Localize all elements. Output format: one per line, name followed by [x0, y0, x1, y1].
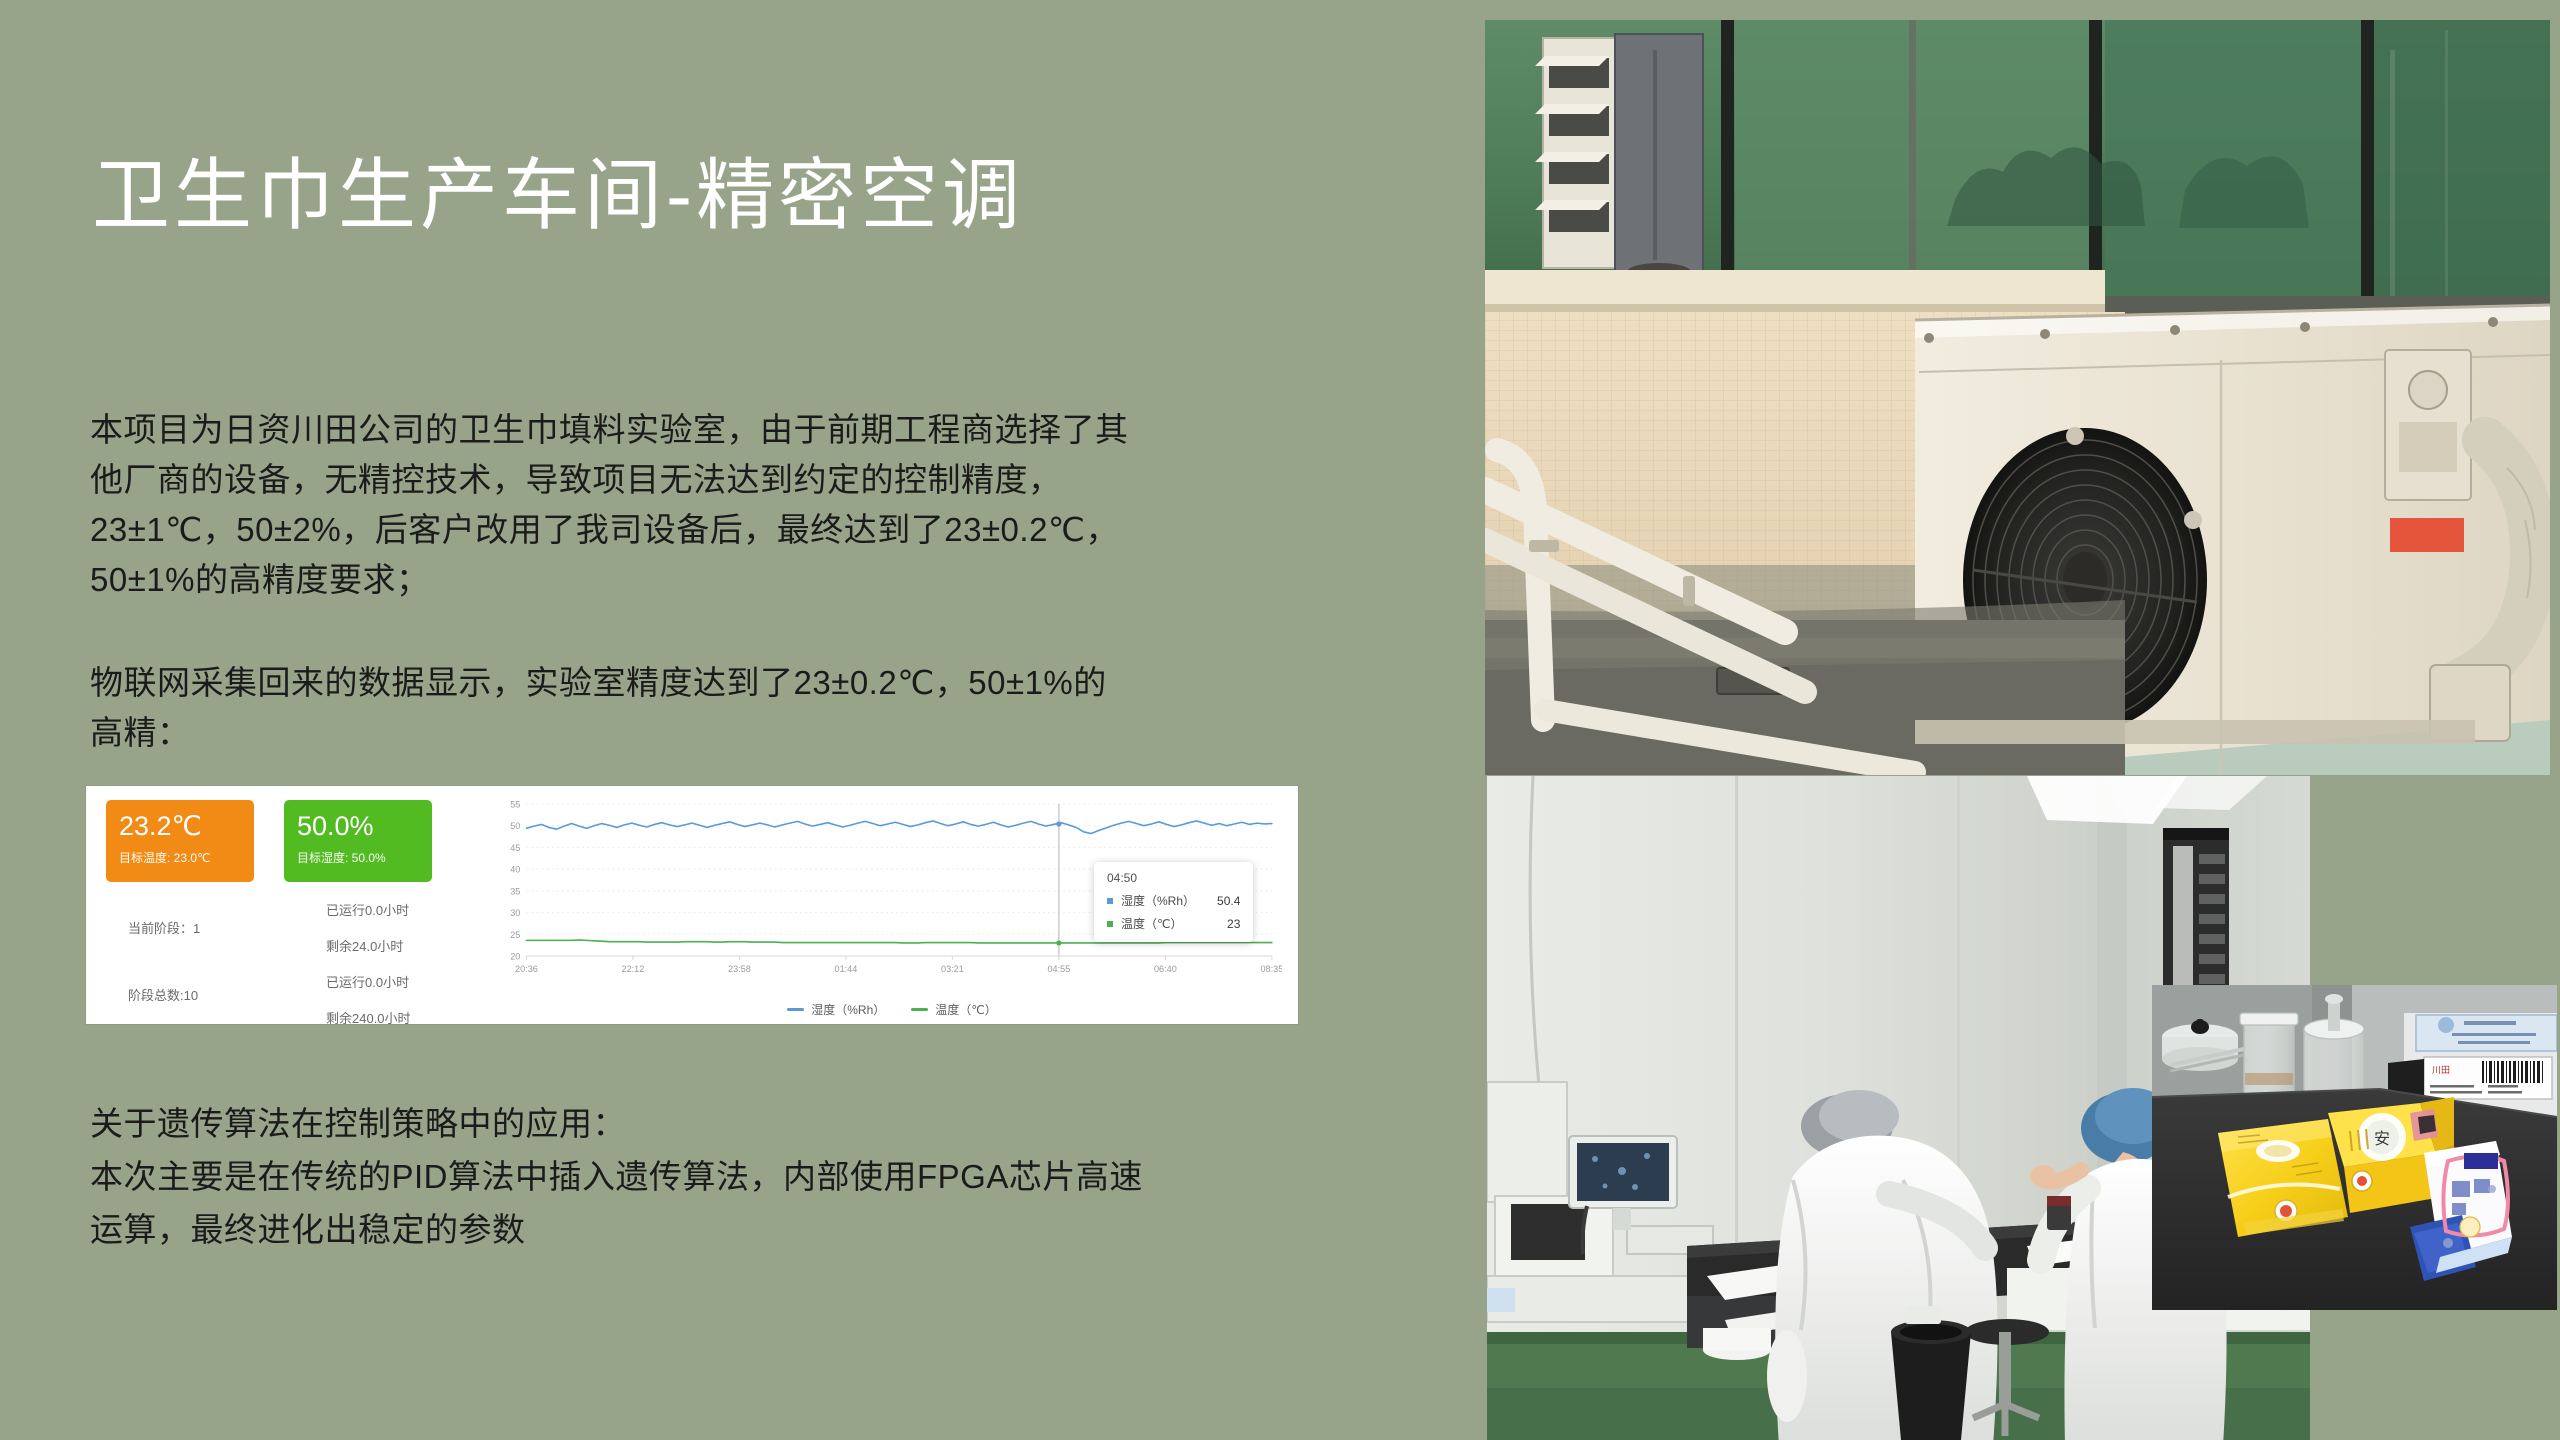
svg-text:03:21: 03:21 — [941, 964, 964, 974]
chart-tooltip: 04:50 湿度（%Rh） 50.4 温度（℃） 23 — [1094, 862, 1253, 942]
humidity-target: 目标湿度: 50.0% — [297, 849, 432, 866]
svg-text:40: 40 — [510, 865, 520, 875]
paragraph-line: 高精： — [90, 708, 1410, 758]
paragraph-line: 他厂商的设备，无精控技术，导致项目无法达到约定的控制精度， — [90, 455, 1410, 505]
photo-product-samples: 川田 — [2152, 985, 2557, 1310]
svg-text:23:58: 23:58 — [728, 964, 751, 974]
humidity-bullet-icon — [1107, 898, 1113, 904]
humidity-card: 50.0% 目标湿度: 50.0% — [284, 800, 432, 882]
paragraph-line: 运算，最终进化出稳定的参数 — [90, 1204, 1410, 1257]
tooltip-row-humidity: 湿度（%Rh） 50.4 — [1107, 892, 1240, 909]
humidity-value: 50.0% — [297, 812, 432, 840]
svg-text:45: 45 — [510, 843, 520, 853]
svg-text:20: 20 — [510, 952, 520, 962]
stage-elapsed-label: 已运行0.0小时 — [326, 900, 409, 919]
temperature-value: 23.2℃ — [119, 812, 254, 840]
svg-text:01:44: 01:44 — [835, 964, 858, 974]
page-title: 卫生巾生产车间-精密空调 — [92, 152, 1024, 239]
svg-text:08:35: 08:35 — [1260, 964, 1282, 974]
stage-total-label: 阶段总数:10 — [128, 985, 198, 1004]
svg-text:川田: 川田 — [2432, 1065, 2450, 1076]
legend-entry-temperature: 温度（℃） — [911, 1001, 996, 1018]
svg-text:安: 安 — [2374, 1129, 2390, 1148]
paragraph-line: 本项目为日资川田公司的卫生巾填料实验室，由于前期工程商选择了其 — [90, 405, 1410, 455]
photo-outdoor-condenser-unit — [1485, 20, 2550, 775]
paragraph-iot-data: 物联网采集回来的数据显示，实验室精度达到了23±0.2℃，50±1%的 高精： — [90, 658, 1410, 758]
svg-text:25: 25 — [510, 930, 520, 940]
svg-text:06:40: 06:40 — [1154, 964, 1177, 974]
svg-text:55: 55 — [510, 800, 520, 810]
temperature-bullet-icon — [1107, 921, 1113, 927]
tooltip-temperature-value: 23 — [1205, 917, 1240, 931]
svg-text:35: 35 — [510, 886, 520, 896]
svg-text:30: 30 — [510, 908, 520, 918]
tooltip-temperature-name: 温度（℃） — [1121, 915, 1182, 932]
dashboard-status-panel: 23.2℃ 目标温度: 23.0℃ 50.0% 目标湿度: 50.0% 当前阶段… — [86, 786, 486, 1024]
stage-current-label: 当前阶段：1 — [128, 918, 200, 937]
paragraph-line: 23±1℃，50±2%，后客户改用了我司设备后，最终达到了23±0.2℃， — [90, 505, 1410, 555]
chart-legend: 湿度（%Rh） 温度（℃） — [486, 1001, 1298, 1018]
legend-label: 湿度（%Rh） — [811, 1001, 885, 1018]
legend-label: 温度（℃） — [935, 1001, 996, 1018]
svg-text:04:55: 04:55 — [1047, 964, 1070, 974]
paragraph-line: 50±1%的高精度要求； — [90, 555, 1410, 605]
svg-text:50: 50 — [510, 821, 520, 831]
product-samples-illustration: 川田 — [2152, 985, 2557, 1310]
temperature-humidity-chart: 202530354045505520:3622:1223:5801:4403:2… — [486, 786, 1298, 1024]
tooltip-humidity-value: 50.4 — [1195, 894, 1240, 908]
tooltip-row-temperature: 温度（℃） 23 — [1107, 915, 1240, 932]
product-pack-yellow-flat — [2218, 1119, 2348, 1237]
tooltip-humidity-name: 湿度（%Rh） — [1121, 892, 1195, 909]
outdoor-unit-illustration — [1485, 20, 2550, 775]
temperature-target: 目标温度: 23.0℃ — [119, 849, 254, 866]
paragraph-line: 本次主要是在传统的PID算法中插入遗传算法，内部使用FPGA芯片高速 — [90, 1151, 1410, 1204]
legend-dash-icon — [787, 1008, 804, 1011]
iot-dashboard-screenshot: 23.2℃ 目标温度: 23.0℃ 50.0% 目标湿度: 50.0% 当前阶段… — [86, 786, 1298, 1024]
legend-dash-icon — [911, 1008, 928, 1011]
stage-remaining-label: 剩余24.0小时 — [326, 936, 403, 955]
total-remaining-label: 剩余240.0小时 — [326, 1008, 411, 1027]
paragraph-project-intro: 本项目为日资川田公司的卫生巾填料实验室，由于前期工程商选择了其 他厂商的设备，无… — [90, 405, 1410, 606]
svg-text:20:36: 20:36 — [515, 964, 538, 974]
trash-bin — [1891, 1306, 1971, 1440]
paragraph-line: 关于遗传算法在控制策略中的应用： — [90, 1098, 1410, 1151]
svg-text:22:12: 22:12 — [622, 964, 645, 974]
total-elapsed-label: 已运行0.0小时 — [326, 972, 409, 991]
legend-entry-humidity: 湿度（%Rh） — [787, 1001, 885, 1018]
paragraph-line: 物联网采集回来的数据显示，实验室精度达到了23±0.2℃，50±1%的 — [90, 658, 1410, 708]
temperature-card: 23.2℃ 目标温度: 23.0℃ — [106, 800, 254, 882]
tooltip-time: 04:50 — [1107, 871, 1240, 885]
paragraph-genetic-algorithm: 关于遗传算法在控制策略中的应用： 本次主要是在传统的PID算法中插入遗传算法，内… — [90, 1098, 1410, 1256]
